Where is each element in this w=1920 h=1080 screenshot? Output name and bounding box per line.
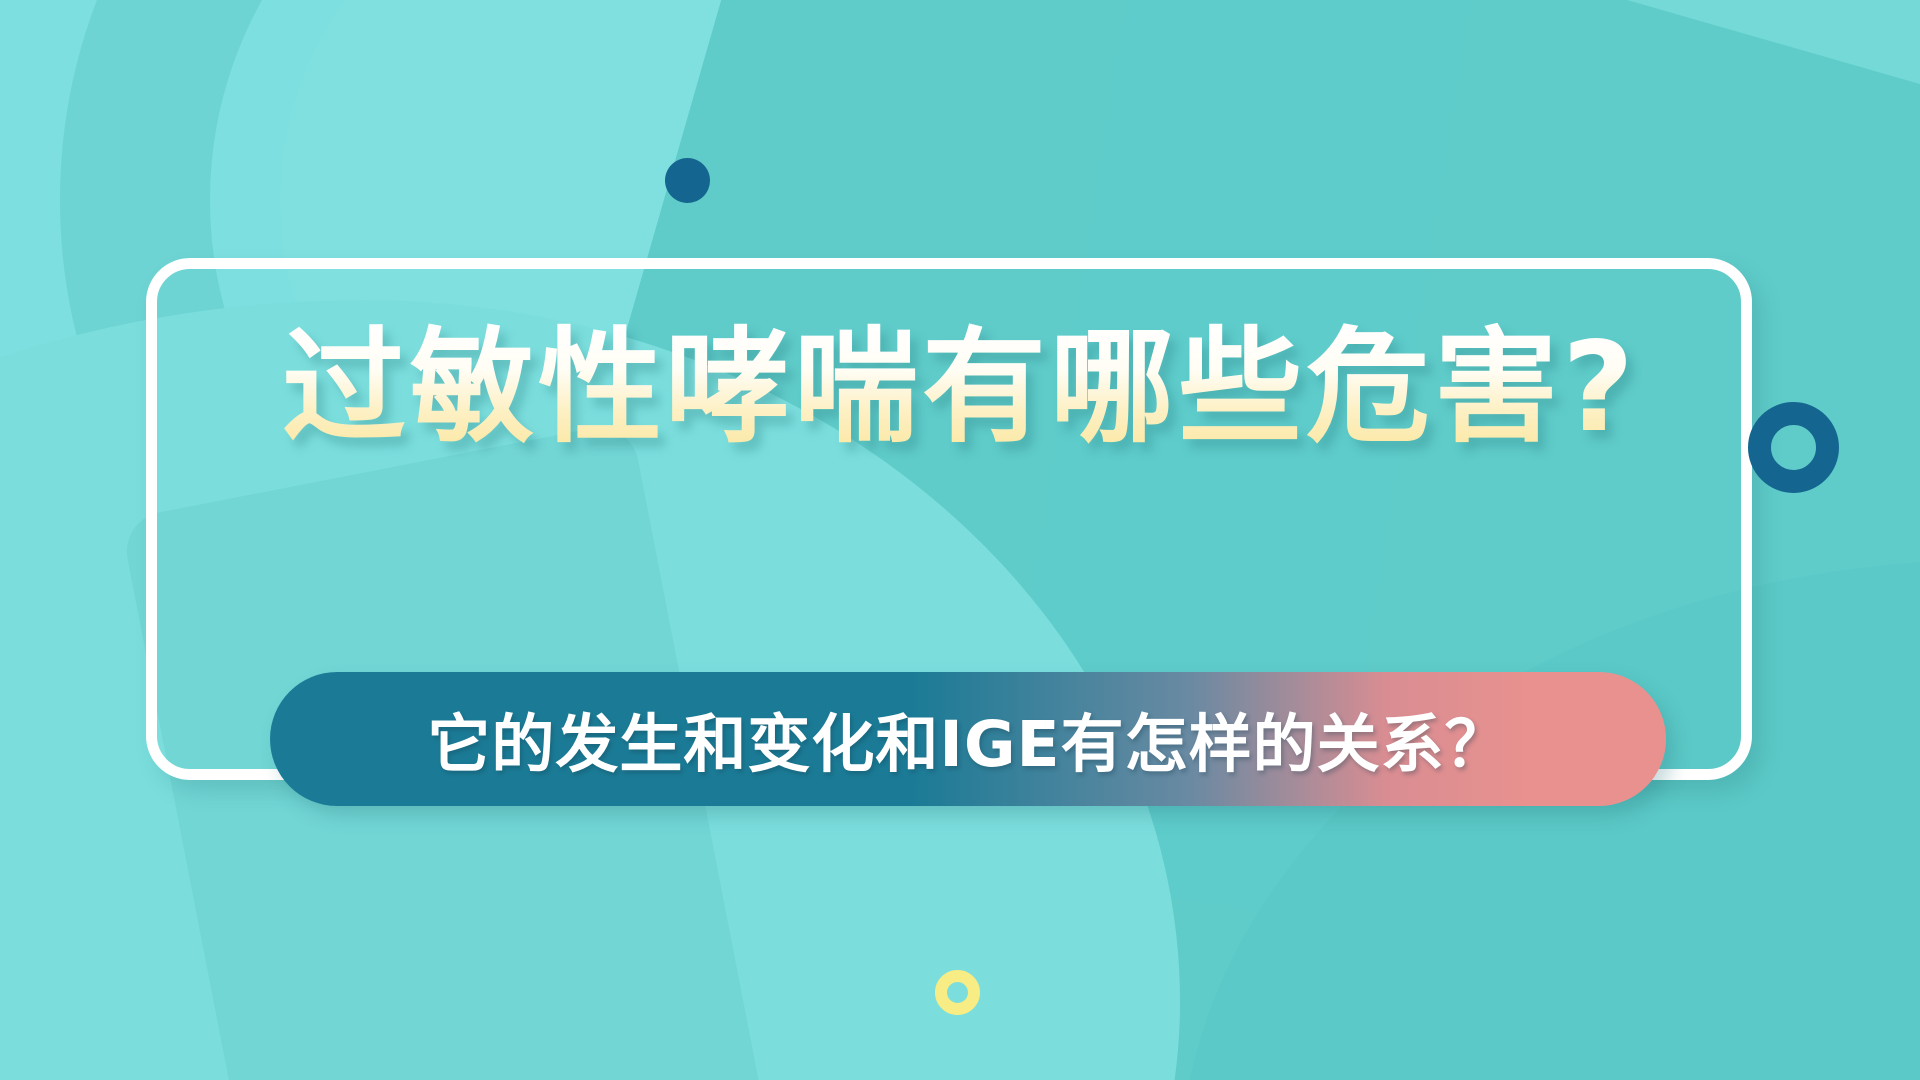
blue-dot-icon [665,158,710,203]
subtitle-text: 它的发生和变化和IGE有怎样的关系？ [427,694,1508,785]
subtitle-banner: 它的发生和变化和IGE有怎样的关系？ [270,672,1666,806]
poster-canvas: 过敏性哮喘有哪些危害? 它的发生和变化和IGE有怎样的关系？ [0,0,1920,1080]
yellow-ring-icon [935,970,980,1015]
page-title: 过敏性哮喘有哪些危害? [0,322,1920,456]
